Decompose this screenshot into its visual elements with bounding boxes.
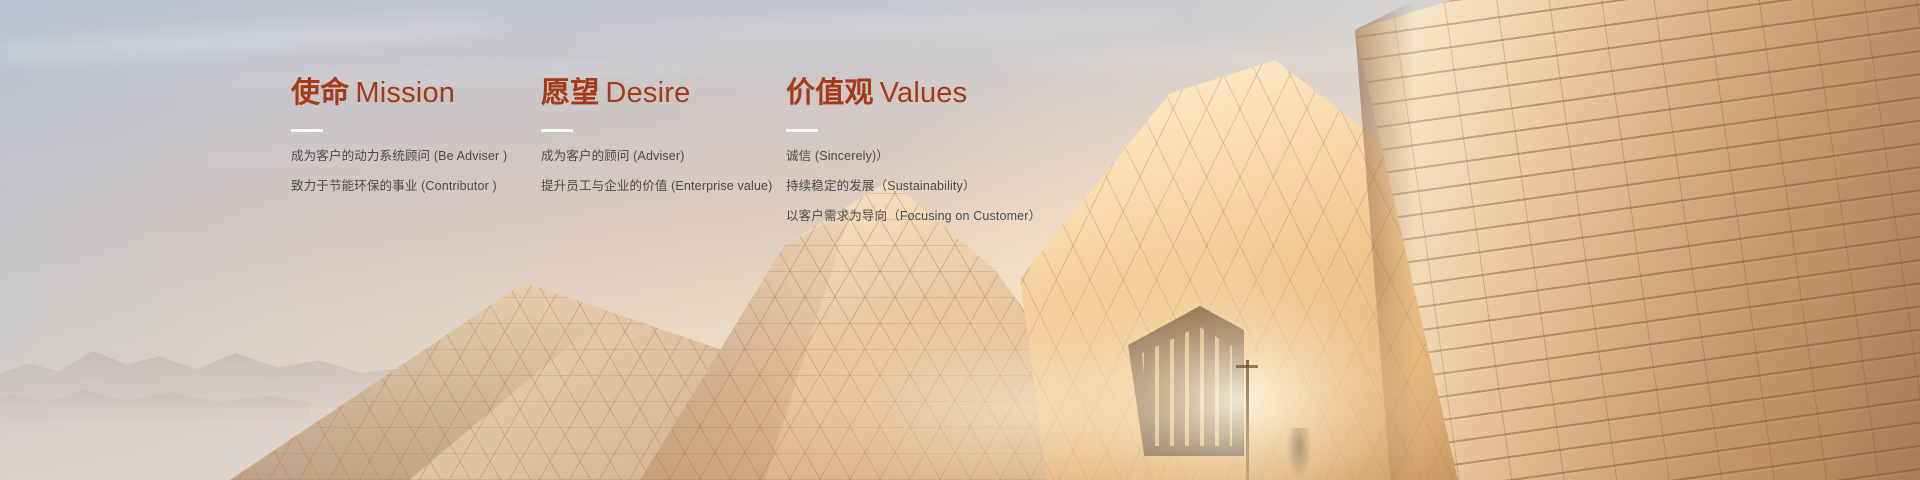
- heading-latin: Desire: [605, 77, 690, 109]
- column-mission-heading: 使命Mission: [291, 76, 507, 110]
- heading-cjk: 使命: [291, 77, 349, 109]
- column-desire-line-2: 提升员工与企业的价值 (Enterprise value): [541, 179, 772, 193]
- heading-latin: Values: [880, 77, 968, 109]
- column-divider: [291, 129, 323, 132]
- column-values-line-2: 持续稳定的发展（Sustainability）: [786, 179, 1041, 193]
- column-mission-line-1: 成为客户的动力系统顾问 (Be Adviser ): [291, 149, 507, 163]
- column-values: 价值观Values 诚信 (Sincerely)） 持续稳定的发展（Sustai…: [786, 76, 1041, 223]
- column-divider: [541, 129, 573, 132]
- column-values-line-3: 以客户需求为导向（Focusing on Customer）: [786, 209, 1041, 223]
- column-desire-heading: 愿望Desire: [541, 76, 772, 110]
- heading-latin: Mission: [355, 77, 455, 109]
- column-values-line-1: 诚信 (Sincerely)）: [786, 149, 1041, 163]
- heading-cjk: 愿望: [541, 77, 599, 109]
- heading-cjk: 价值观: [786, 77, 874, 109]
- column-mission-line-2: 致力于节能环保的事业 (Contributor ): [291, 179, 507, 193]
- column-desire: 愿望Desire 成为客户的顾问 (Adviser) 提升员工与企业的价值 (E…: [541, 76, 772, 193]
- column-values-heading: 价值观Values: [786, 76, 1041, 110]
- text-overlay: 使命Mission 成为客户的动力系统顾问 (Be Adviser ) 致力于节…: [0, 0, 1920, 480]
- column-desire-line-1: 成为客户的顾问 (Adviser): [541, 149, 772, 163]
- column-mission: 使命Mission 成为客户的动力系统顾问 (Be Adviser ) 致力于节…: [291, 76, 507, 193]
- hero-banner: 使命Mission 成为客户的动力系统顾问 (Be Adviser ) 致力于节…: [0, 0, 1920, 480]
- column-divider: [786, 129, 818, 132]
